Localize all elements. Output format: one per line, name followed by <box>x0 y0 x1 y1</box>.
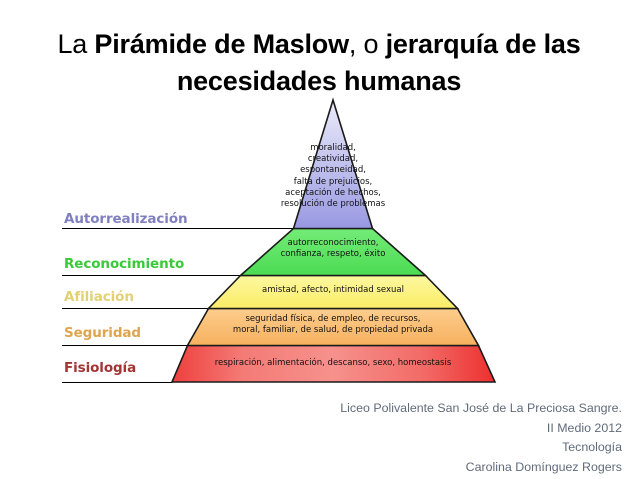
category-label-autorrealizacion: Autorrealización <box>64 211 188 227</box>
category-label-seguridad: Seguridad <box>64 325 141 341</box>
tier-line: aceptación de hechos, <box>233 188 433 199</box>
footer-line-school: Liceo Polivalente San José de La Precios… <box>202 399 622 419</box>
tier-line: falta de prejuicios, <box>233 177 433 188</box>
footer-credits: Liceo Polivalente San José de La Precios… <box>202 399 622 477</box>
tier-line: espontaneidad, <box>233 165 433 176</box>
tier-line: autorreconocimiento, <box>233 238 433 249</box>
tier-line: moral, familiar, de salud, de propiedad … <box>178 325 488 336</box>
tier-text-esteem: autorreconocimiento, confianza, respeto,… <box>233 238 433 260</box>
tier-line: amistad, afecto, intimidad sexual <box>208 285 458 296</box>
tier-text-love-belonging: amistad, afecto, intimidad sexual <box>208 285 458 296</box>
category-label-fisiologia: Fisiología <box>64 360 136 376</box>
tier-line: creatividad, <box>233 154 433 165</box>
category-label-reconocimiento: Reconocimiento <box>64 256 184 272</box>
tier-line: resolución de problemas <box>233 199 433 210</box>
tier-line: moralidad, <box>233 143 433 154</box>
tier-text-safety: seguridad física, de empleo, de recursos… <box>178 314 488 336</box>
footer-line-grade: II Medio 2012 <box>202 419 622 439</box>
tier-text-self-actualization: moralidad, creatividad, espontaneidad, f… <box>233 143 433 210</box>
footer-line-author: Carolina Domínguez Rogers <box>202 458 622 478</box>
tier-text-physiological: respiración, alimentación, descanso, sex… <box>163 358 503 369</box>
tier-line: seguridad física, de empleo, de recursos… <box>178 314 488 325</box>
footer-line-subject: Tecnología <box>202 438 622 458</box>
tier-line: confianza, respeto, éxito <box>233 249 433 260</box>
tier-line: respiración, alimentación, descanso, sex… <box>163 358 503 369</box>
category-label-afiliacion: Afiliación <box>64 289 134 305</box>
